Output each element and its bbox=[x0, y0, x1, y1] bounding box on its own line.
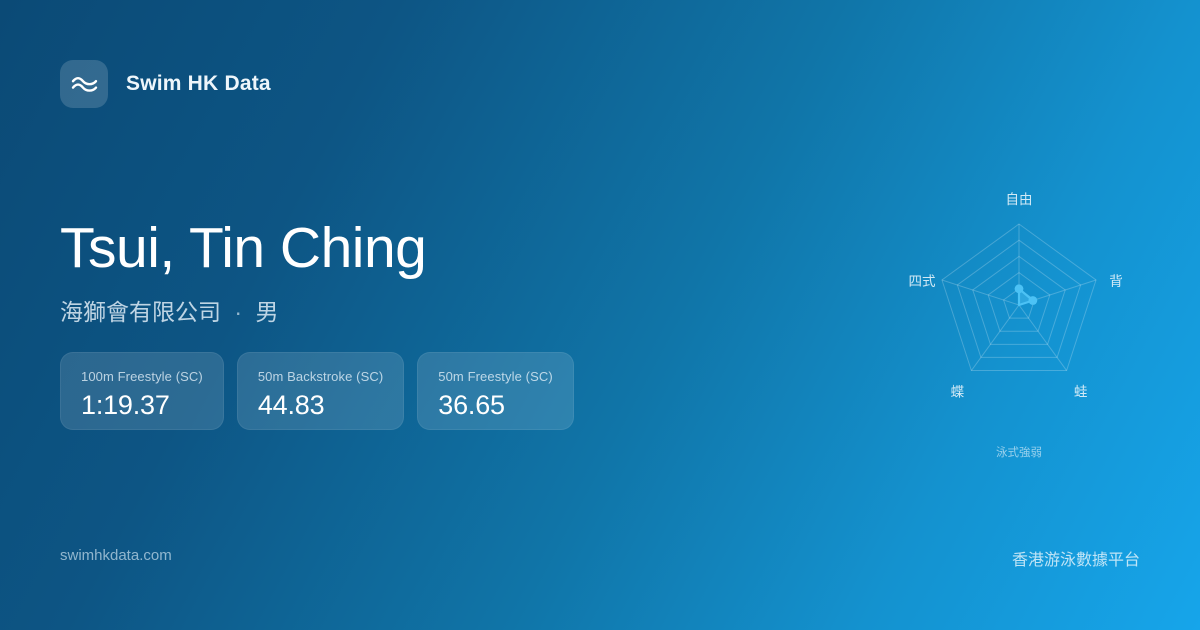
stat-value: 36.65 bbox=[438, 390, 553, 421]
poster-canvas: Swim HK Data Tsui, Tin Ching 海獅會有限公司 · 男… bbox=[0, 0, 1200, 630]
stat-card[interactable]: 50m Freestyle (SC) 36.65 bbox=[417, 352, 574, 430]
stat-card[interactable]: 100m Freestyle (SC) 1:19.37 bbox=[60, 352, 224, 430]
radar-spoke bbox=[1019, 305, 1067, 371]
stroke-strength-radar-chart: 自由 背 蛙 蝶 四式 泳式強弱 bbox=[869, 170, 1169, 470]
radar-axis-label-butterfly: 蝶 bbox=[951, 385, 965, 401]
footer-site-url[interactable]: swimhkdata.com bbox=[60, 547, 172, 564]
stat-value: 44.83 bbox=[258, 390, 383, 421]
radar-data-point[interactable] bbox=[1015, 284, 1024, 293]
stat-label: 100m Freestyle (SC) bbox=[81, 369, 203, 384]
athlete-meta: 海獅會有限公司 · 男 bbox=[60, 293, 426, 327]
meta-separator: · bbox=[227, 299, 249, 325]
brand-lockup[interactable]: Swim HK Data bbox=[60, 60, 271, 108]
radar-axis-label-freestyle: 自由 bbox=[1006, 192, 1033, 208]
radar-svg: 自由 背 蛙 蝶 四式 泳式強弱 bbox=[869, 170, 1169, 470]
athlete-club: 海獅會有限公司 bbox=[60, 299, 221, 325]
radar-spoke bbox=[971, 305, 1019, 371]
radar-axis-label-backstroke: 背 bbox=[1109, 274, 1123, 290]
stat-label: 50m Freestyle (SC) bbox=[438, 369, 553, 384]
athlete-header: Tsui, Tin Ching 海獅會有限公司 · 男 bbox=[60, 218, 426, 327]
stat-card-list: 100m Freestyle (SC) 1:19.37 50m Backstro… bbox=[60, 352, 574, 430]
radar-axis-label-breaststroke: 蛙 bbox=[1074, 385, 1088, 401]
radar-spoke bbox=[942, 280, 1019, 305]
wave-icon bbox=[60, 60, 108, 108]
athlete-gender: 男 bbox=[255, 299, 278, 325]
brand-name: Swim HK Data bbox=[126, 72, 271, 96]
page-title: Tsui, Tin Ching bbox=[60, 218, 426, 280]
footer-tagline: 香港游泳數據平台 bbox=[1012, 546, 1140, 570]
radar-axis-label-medley: 四式 bbox=[909, 274, 937, 290]
radar-data-point[interactable] bbox=[1028, 296, 1037, 305]
stat-card[interactable]: 50m Backstroke (SC) 44.83 bbox=[237, 352, 404, 430]
radar-caption: 泳式強弱 bbox=[996, 445, 1042, 459]
stat-label: 50m Backstroke (SC) bbox=[258, 369, 383, 384]
stat-value: 1:19.37 bbox=[81, 390, 203, 421]
